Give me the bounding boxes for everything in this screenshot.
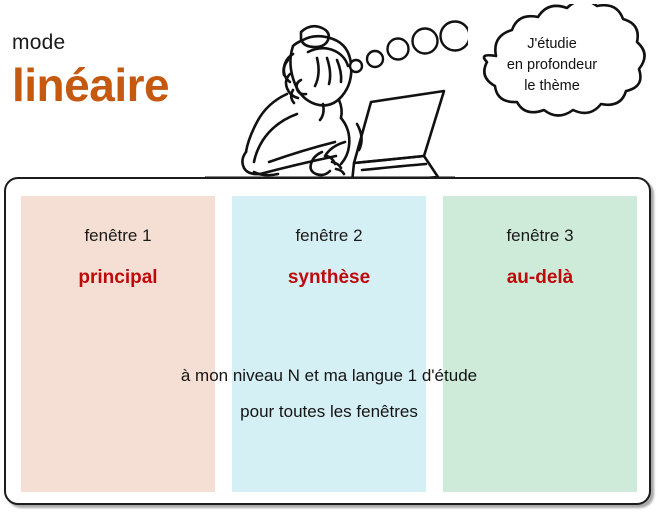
- panels-row: fenêtre 1 principal fenêtre 2 synthèse f…: [21, 196, 637, 492]
- panel-fenetre-2[interactable]: fenêtre 2 synthèse: [232, 196, 426, 492]
- thought-line-3: le thème: [472, 76, 632, 97]
- thought-cloud-text: J'étudie en profondeur le thème: [472, 34, 632, 97]
- panel-fenetre-3[interactable]: fenêtre 3 au-delà: [443, 196, 637, 492]
- panel-fenetre-1[interactable]: fenêtre 1 principal: [21, 196, 215, 492]
- panel-2-name: synthèse: [232, 247, 426, 290]
- thought-line-1: J'étudie: [472, 34, 632, 55]
- thought-line-2: en profondeur: [472, 55, 632, 76]
- panel-3-name: au-delà: [443, 247, 637, 290]
- thought-bubble-trail: [348, 18, 468, 74]
- thought-dots-icon: [348, 18, 468, 74]
- panel-1-name: principal: [21, 247, 215, 290]
- panel-2-window-label: fenêtre 2: [232, 196, 426, 247]
- panel-3-window-label: fenêtre 3: [443, 196, 637, 247]
- panel-1-window-label: fenêtre 1: [21, 196, 215, 247]
